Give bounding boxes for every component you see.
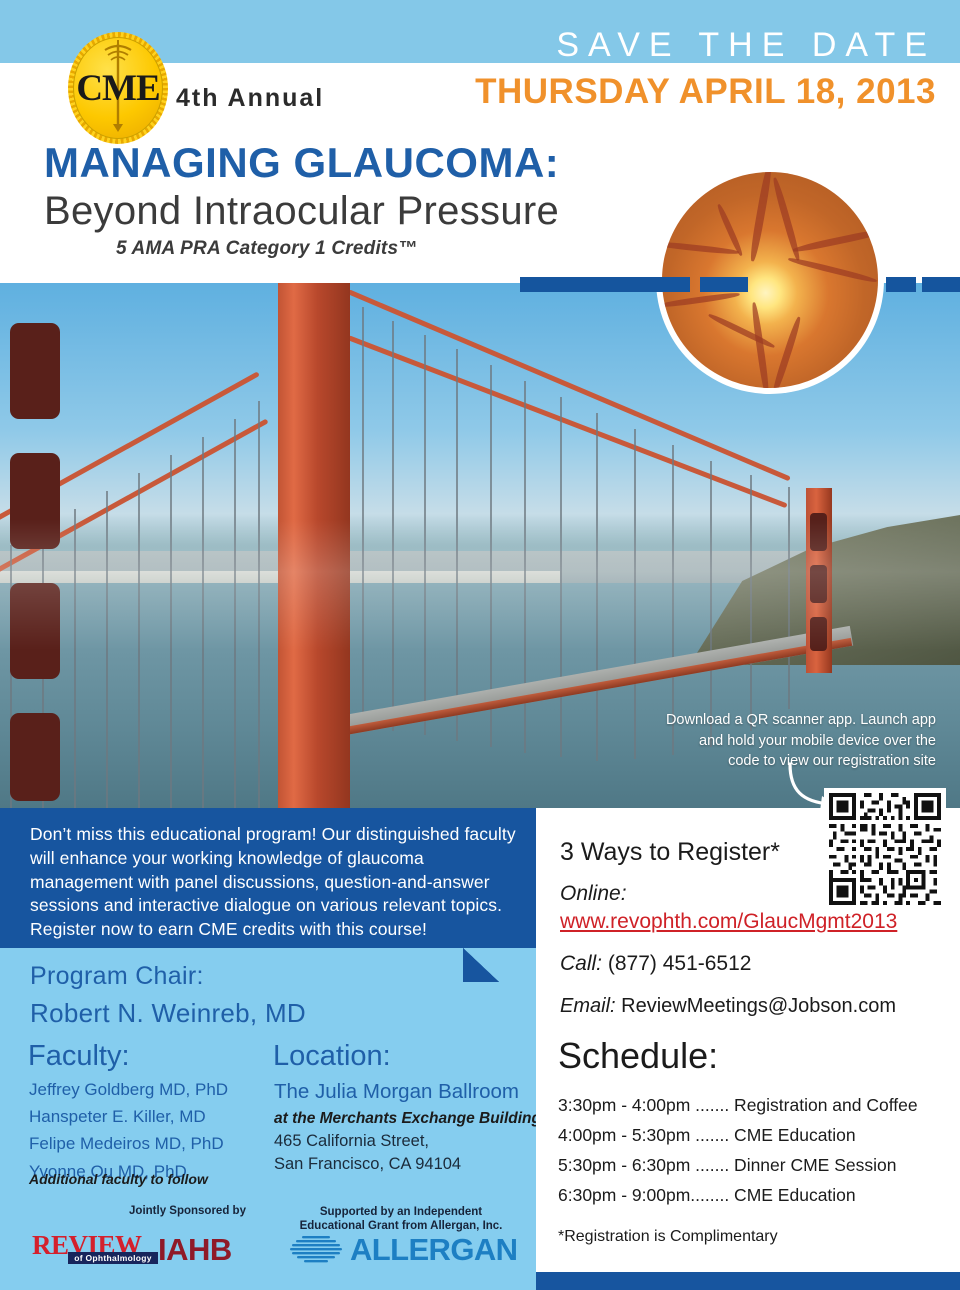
faculty-list: Jeffrey Goldberg MD, PhD Hanspeter E. Ki…	[29, 1076, 274, 1185]
schedule-row: 6:30pm - 9:00pm........ CME Education	[558, 1180, 948, 1210]
faculty-heading: Faculty:	[28, 1040, 130, 1073]
location-building: at the Merchants Exchange Building	[274, 1110, 541, 1128]
phone-number[interactable]: (877) 451-6512	[608, 952, 752, 975]
promo-blurb-text: Don’t miss this educational program! Our…	[30, 823, 522, 942]
schedule-note: *Registration is Complimentary	[558, 1228, 778, 1246]
qr-code[interactable]	[824, 788, 946, 910]
credits-text: 5 AMA PRA Category 1 Credits™	[116, 238, 417, 260]
register-heading: 3 Ways to Register*	[560, 838, 780, 867]
email-line: Email: ReviewMeetings@Jobson.com	[560, 995, 896, 1018]
flyer-page: SAVE THE DATE THURSDAY APRIL 18, 2013 CM…	[0, 0, 960, 1290]
faculty-member: Jeffrey Goldberg MD, PhD	[29, 1076, 274, 1103]
page-title: MANAGING GLAUCOMA:	[44, 139, 559, 187]
faculty-note: Additional faculty to follow	[29, 1171, 208, 1187]
event-date-text: THURSDAY APRIL 18, 2013	[475, 72, 936, 112]
program-chair-label: Program Chair:	[30, 962, 204, 991]
schedule-heading: Schedule:	[558, 1035, 718, 1077]
fundus-image	[662, 172, 878, 388]
online-label: Online:	[560, 882, 627, 906]
email-label: Email:	[560, 995, 616, 1017]
divider-segment-right-b	[922, 277, 960, 292]
save-the-date-text: SAVE THE DATE	[556, 26, 936, 65]
qr-code-image	[829, 793, 941, 905]
faculty-member: Hanspeter E. Killer, MD	[29, 1103, 274, 1130]
cme-seal-logo: CME	[68, 32, 168, 144]
registration-url-link[interactable]: www.revophth.com/GlaucMgmt2013	[560, 910, 897, 934]
promo-blurb-box: Don’t miss this educational program! Our…	[0, 808, 536, 948]
email-address[interactable]: ReviewMeetings@Jobson.com	[621, 995, 896, 1017]
divider-segment-right-a	[886, 277, 916, 292]
optic-disc-photo	[656, 166, 884, 394]
call-label: Call:	[560, 952, 602, 975]
location-citystate: San Francisco, CA 94104	[274, 1153, 524, 1176]
seal-label: CME	[68, 70, 168, 107]
divider-segment-left	[520, 277, 690, 292]
schedule-row: 3:30pm - 4:00pm ....... Registration and…	[558, 1090, 948, 1120]
bottom-blue-bar	[536, 1272, 960, 1290]
schedule-row: 4:00pm - 5:30pm ....... CME Education	[558, 1120, 948, 1150]
phone-line: Call: (877) 451-6512	[560, 952, 751, 976]
schedule-row: 5:30pm - 6:30pm ....... Dinner CME Sessi…	[558, 1150, 948, 1180]
faculty-member: Felipe Medeiros MD, PhD	[29, 1130, 274, 1157]
blurb-notch-triangle	[463, 948, 499, 982]
location-heading: Location:	[273, 1040, 391, 1073]
schedule-list: 3:30pm - 4:00pm ....... Registration and…	[558, 1090, 948, 1210]
location-venue: The Julia Morgan Ballroom	[274, 1080, 519, 1104]
location-address: 465 California Street, San Francisco, CA…	[274, 1130, 524, 1176]
allergan-logo: ALLERGAN	[288, 1230, 514, 1268]
jointly-sponsored-label: Jointly Sponsored by	[95, 1205, 280, 1217]
location-street: 465 California Street,	[274, 1130, 524, 1153]
program-chair-name: Robert N. Weinreb, MD	[30, 998, 306, 1029]
review-ophthalmology-logo: REVIEW of Ophthalmology	[32, 1232, 160, 1266]
allergan-mark-icon	[288, 1234, 346, 1264]
page-subtitle: Beyond Intraocular Pressure	[44, 189, 559, 234]
iahb-logo: IAHB	[158, 1232, 232, 1268]
review-subtitle-band: of Ophthalmology	[68, 1252, 158, 1264]
edition-label: 4th Annual	[176, 84, 324, 113]
divider-segment-mid	[700, 277, 748, 292]
allergan-wordmark: ALLERGAN	[350, 1232, 517, 1268]
